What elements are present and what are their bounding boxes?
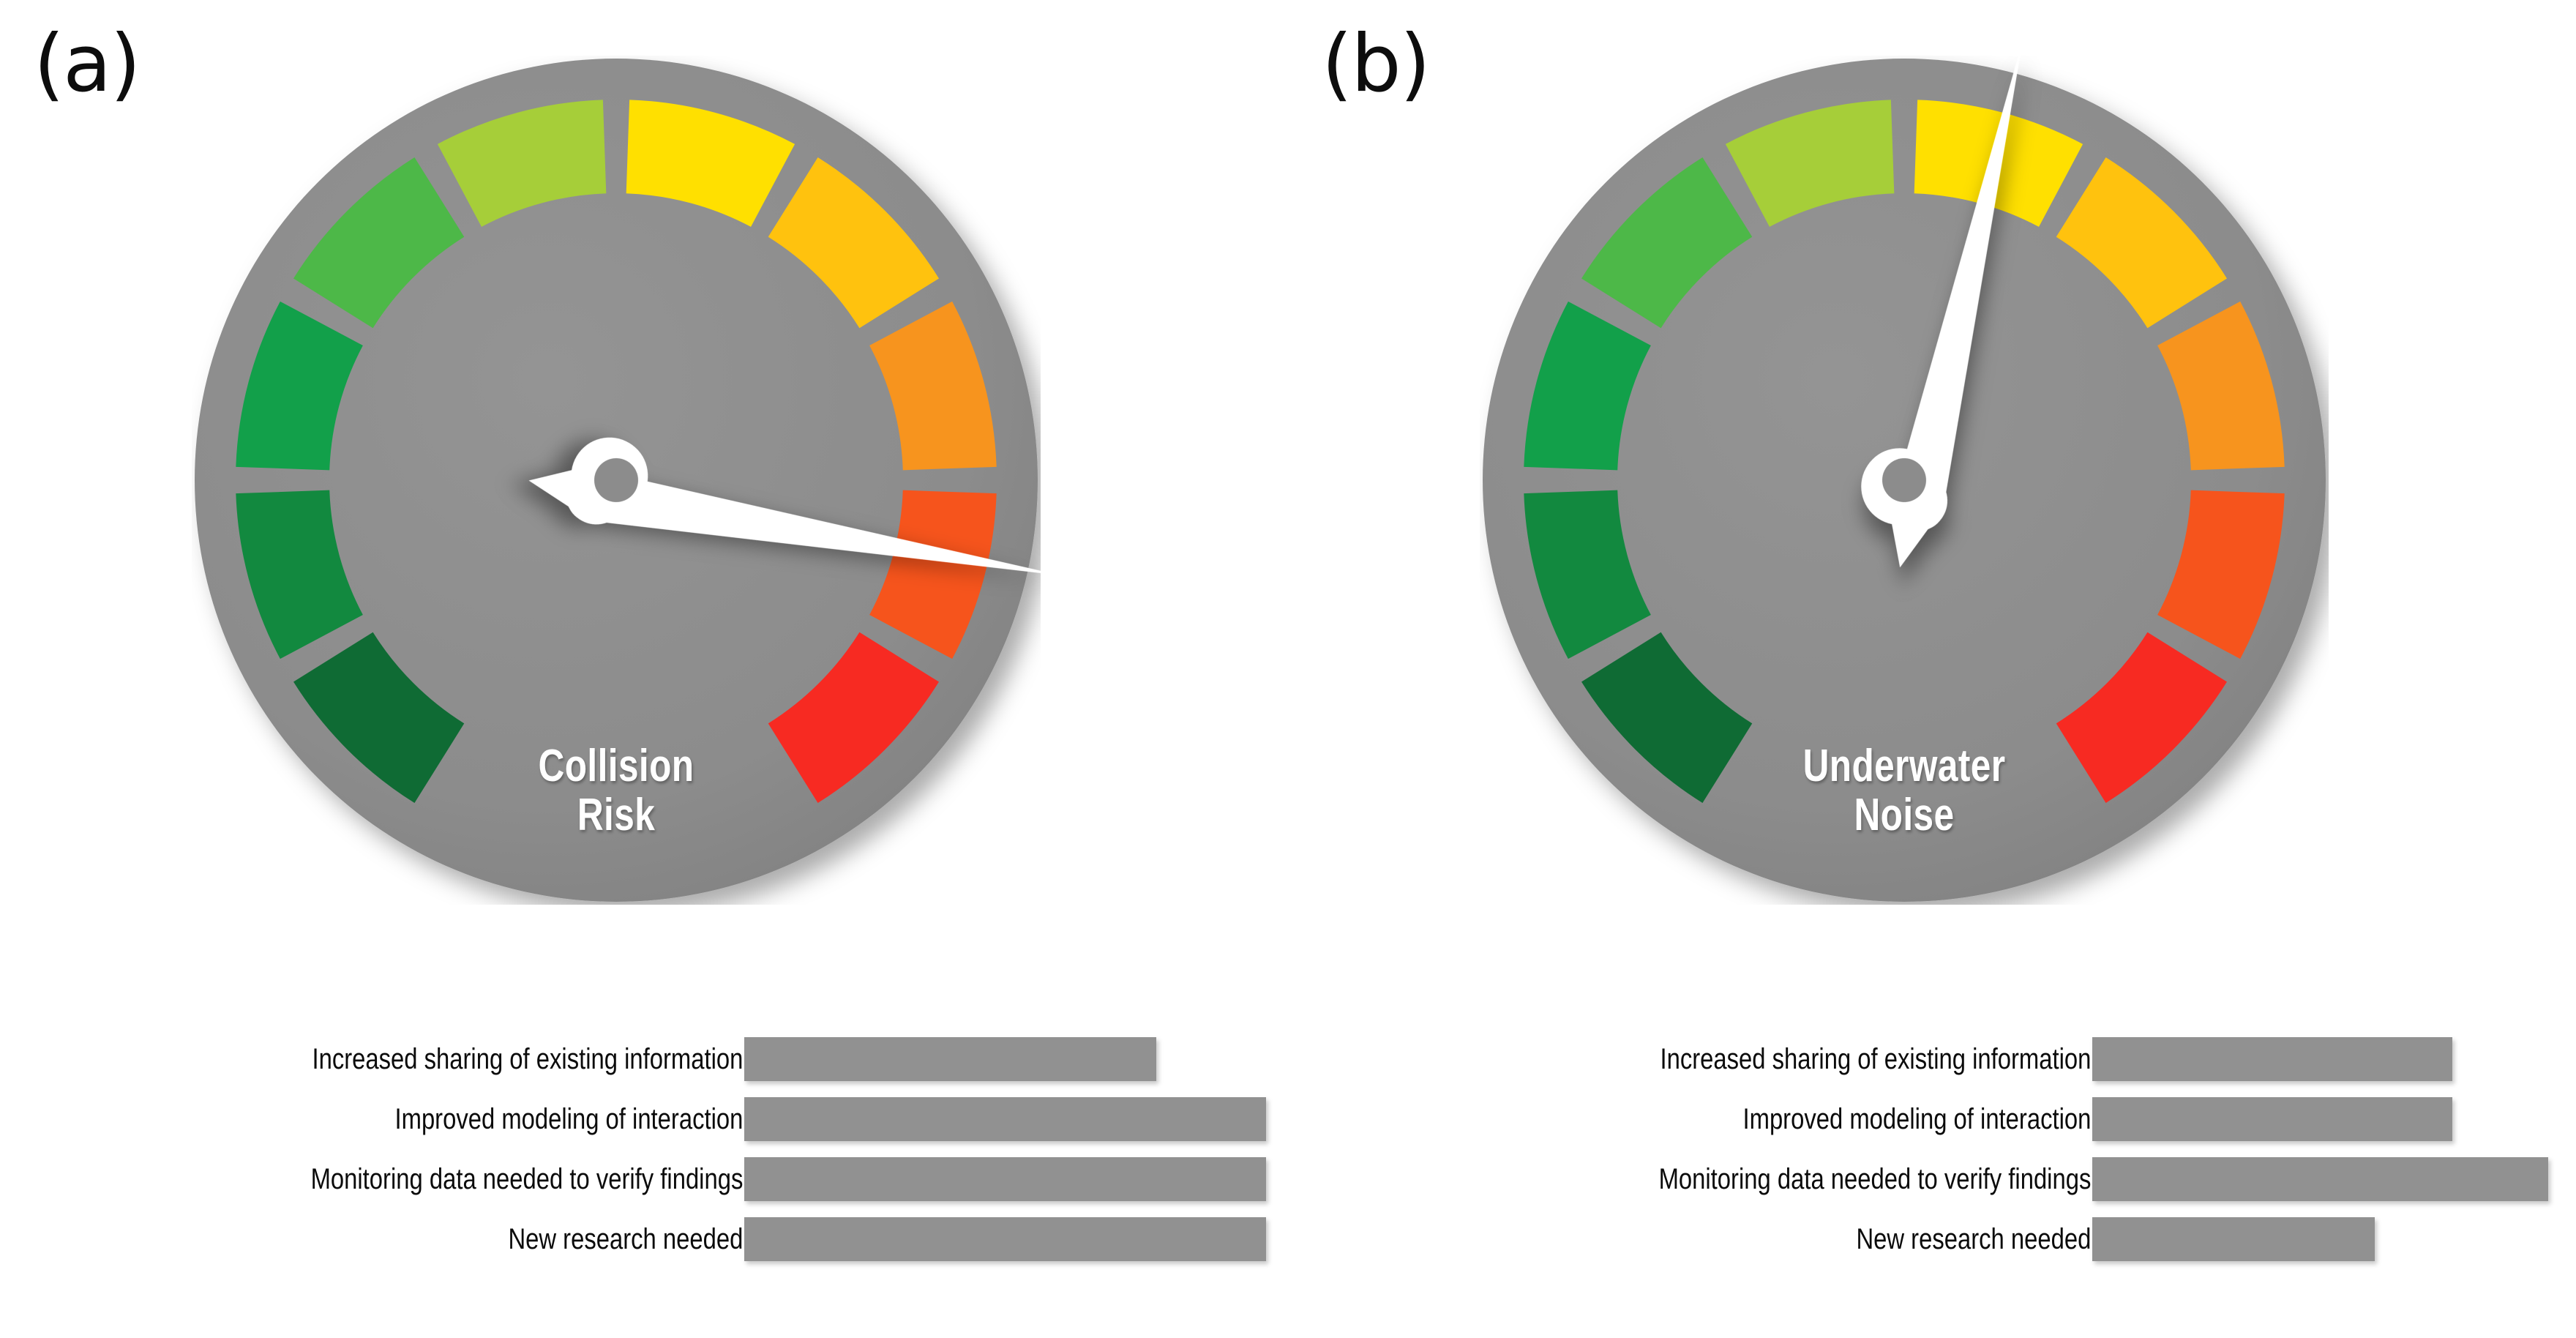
bar-fill bbox=[2092, 1097, 2452, 1141]
bar-chart-a: Increased sharing of existing informatio… bbox=[22, 1034, 1266, 1265]
bar-fill bbox=[2092, 1217, 2375, 1261]
bar-track bbox=[744, 1037, 1266, 1081]
bar-fill bbox=[744, 1157, 1266, 1201]
bar-row: Improved modeling of interaction bbox=[1304, 1094, 2548, 1145]
bar-label: Improved modeling of interaction bbox=[152, 1105, 744, 1134]
bar-label: Increased sharing of existing informatio… bbox=[152, 1044, 744, 1074]
bar-fill bbox=[744, 1217, 1266, 1261]
bar-label: Monitoring data needed to verify finding… bbox=[152, 1165, 744, 1194]
bar-fill bbox=[744, 1037, 1156, 1081]
bar-row: Monitoring data needed to verify finding… bbox=[22, 1154, 1266, 1205]
bar-row: New research needed bbox=[1304, 1214, 2548, 1265]
bar-chart-b: Increased sharing of existing informatio… bbox=[1304, 1034, 2548, 1265]
bar-label: New research needed bbox=[152, 1225, 744, 1254]
bar-row: New research needed bbox=[22, 1214, 1266, 1265]
bar-track bbox=[2092, 1097, 2548, 1141]
bar-fill bbox=[744, 1097, 1266, 1141]
panel-a: (a) bbox=[0, 0, 1288, 1338]
panel-letter-b: (b) bbox=[1322, 25, 1429, 104]
bar-label: Improved modeling of interaction bbox=[1446, 1105, 2092, 1134]
gauge-svg-a bbox=[192, 56, 1041, 905]
bar-track bbox=[744, 1157, 1266, 1201]
bar-track bbox=[2092, 1037, 2548, 1081]
panel-b: (b) bbox=[1288, 0, 2576, 1338]
bar-track bbox=[2092, 1217, 2548, 1261]
bar-label: Increased sharing of existing informatio… bbox=[1446, 1044, 2092, 1074]
bar-row: Increased sharing of existing informatio… bbox=[1304, 1034, 2548, 1085]
gauge-underwater-noise: Underwater Noise bbox=[1480, 56, 2329, 905]
bar-fill bbox=[2092, 1157, 2548, 1201]
bar-row: Monitoring data needed to verify finding… bbox=[1304, 1154, 2548, 1205]
panel-letter-a: (a) bbox=[34, 25, 139, 104]
bar-track bbox=[744, 1097, 1266, 1141]
bar-track bbox=[2092, 1157, 2548, 1201]
bar-track bbox=[744, 1217, 1266, 1261]
gauge-svg-b bbox=[1480, 56, 2329, 905]
gauge-collision-risk: Collision Risk bbox=[192, 56, 1041, 905]
bar-label: New research needed bbox=[1446, 1225, 2092, 1254]
bar-label: Monitoring data needed to verify finding… bbox=[1446, 1165, 2092, 1194]
bar-row: Improved modeling of interaction bbox=[22, 1094, 1266, 1145]
bar-fill bbox=[2092, 1037, 2452, 1081]
bar-row: Increased sharing of existing informatio… bbox=[22, 1034, 1266, 1085]
